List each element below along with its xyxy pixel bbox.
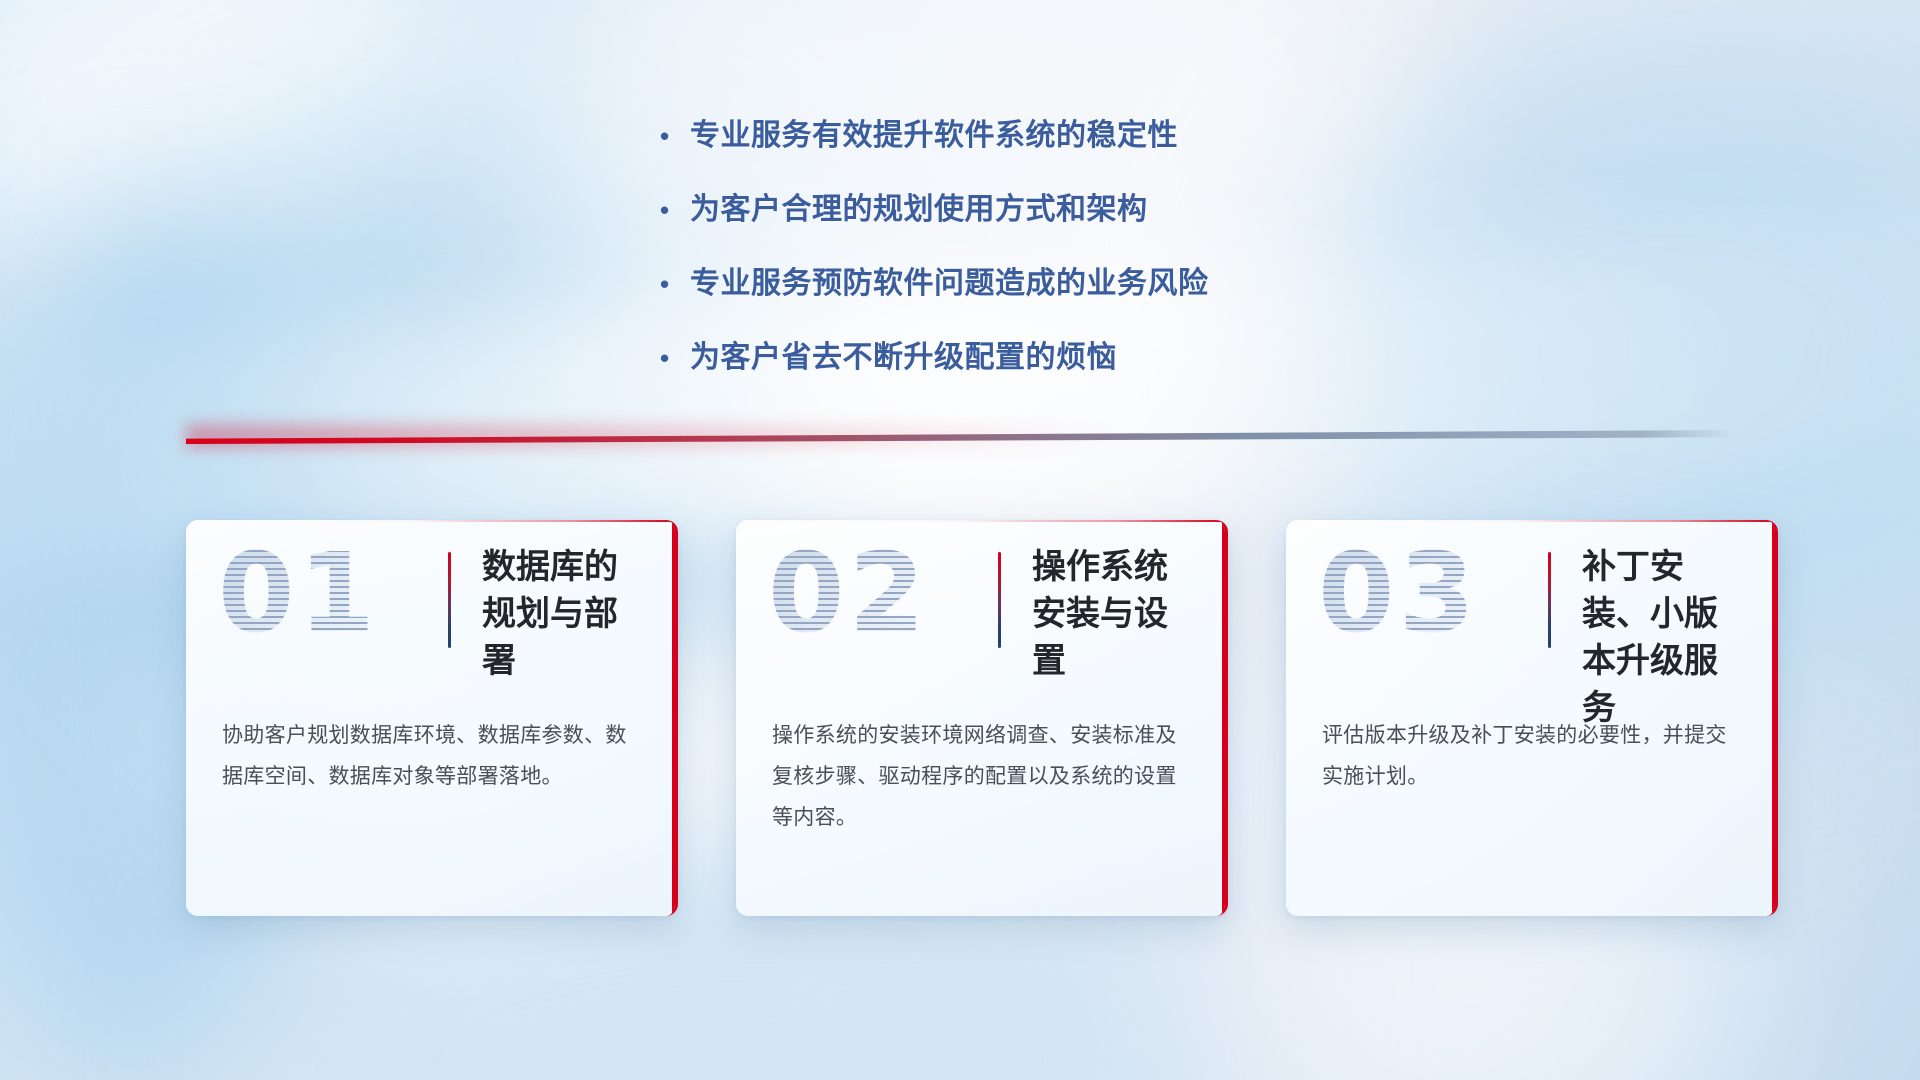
card-top-accent	[1286, 520, 1775, 522]
card-group: 01 数据库的规划与部署 协助客户规划数据库环境、数据库参数、数据库空间、数据库…	[186, 520, 1778, 916]
card-title-divider	[1548, 552, 1551, 648]
card-body-text: 协助客户规划数据库环境、数据库参数、数据库空间、数据库对象等部署落地。	[222, 716, 639, 798]
bullet-item-label: 为客户省去不断升级配置的烦恼	[690, 332, 1117, 376]
service-card[interactable]: 03 补丁安装、小版本升级服务 评估版本升级及补丁安装的必要性，并提交实施计划。	[1286, 520, 1778, 916]
bullet-list: • 专业服务有效提升软件系统的稳定性 • 为客户合理的规划使用方式和架构 • 专…	[660, 110, 1420, 376]
bullet-item-label: 为客户合理的规划使用方式和架构	[690, 184, 1148, 228]
card-top-accent	[736, 520, 1225, 522]
bullet-item: • 为客户省去不断升级配置的烦恼	[660, 332, 1420, 376]
bullet-item-label: 专业服务预防软件问题造成的业务风险	[690, 258, 1209, 302]
service-card[interactable]: 01 数据库的规划与部署 协助客户规划数据库环境、数据库参数、数据库空间、数据库…	[186, 520, 678, 916]
card-number-watermark: 01	[218, 538, 379, 648]
card-title-divider	[998, 552, 1001, 648]
bullet-item: • 为客户合理的规划使用方式和架构	[660, 184, 1420, 228]
bullet-marker-icon: •	[660, 271, 690, 297]
service-card[interactable]: 02 操作系统安装与设置 操作系统的安装环境网络调查、安装标准及复核步骤、驱动程…	[736, 520, 1228, 916]
card-number-watermark: 03	[1318, 538, 1479, 648]
card-title-divider	[448, 552, 451, 648]
bullet-item: • 专业服务有效提升软件系统的稳定性	[660, 110, 1420, 154]
card-body-text: 评估版本升级及补丁安装的必要性，并提交实施计划。	[1322, 716, 1739, 798]
bullet-marker-icon: •	[660, 123, 690, 149]
card-top-accent	[186, 520, 675, 522]
bullet-item: • 专业服务预防软件问题造成的业务风险	[660, 258, 1420, 302]
card-body-text: 操作系统的安装环境网络调查、安装标准及复核步骤、驱动程序的配置以及系统的设置等内…	[772, 716, 1189, 839]
bullet-item-label: 专业服务有效提升软件系统的稳定性	[690, 110, 1178, 154]
card-title: 数据库的规划与部署	[482, 544, 645, 685]
section-divider	[186, 430, 1734, 444]
bullet-marker-icon: •	[660, 197, 690, 223]
card-number-watermark: 02	[768, 538, 929, 648]
bullet-marker-icon: •	[660, 345, 690, 371]
card-title: 补丁安装、小版本升级服务	[1582, 544, 1745, 732]
card-title: 操作系统安装与设置	[1032, 544, 1195, 685]
